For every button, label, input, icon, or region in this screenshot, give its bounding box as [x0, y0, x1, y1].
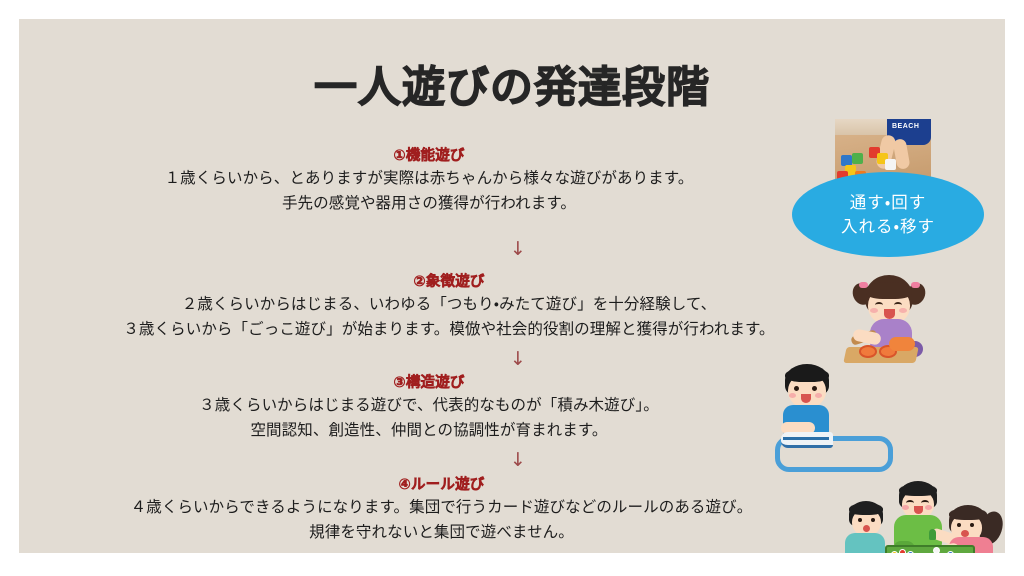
arrow-down-icon-1: ↓	[503, 240, 533, 259]
callout-line-2: 入れる・移す	[841, 215, 935, 239]
stage-line-1-1: １歳くらいから、とありますが実際は赤ちゃんから様々な遊びがあります。	[19, 166, 839, 191]
illus-board-space	[891, 551, 898, 553]
stage-block-3: ③構造遊び ３歳くらいからはじまる遊びで、代表的なものが「積み木遊び」。 空間認…	[19, 374, 839, 443]
illus-game-pawn	[929, 529, 936, 540]
stage-line-3-1: ３歳くらいからはじまる遊びで、代表的なものが「積み木遊び」。	[19, 393, 839, 418]
callout-ellipse: 通す・回す 入れる・移す	[792, 172, 984, 257]
illus-board-space	[947, 551, 954, 553]
slide-canvas: 一人遊びの発達段階 ①機能遊び １歳くらいから、とありますが実際は赤ちゃんから様…	[19, 19, 1005, 553]
illus-cheek-left	[870, 308, 878, 313]
illus-cheek-right	[899, 308, 907, 313]
illus-hair-tie-right	[911, 282, 920, 288]
stage-heading-4: ④ルール遊び	[19, 476, 864, 495]
stage-heading-3: ③構造遊び	[19, 374, 839, 393]
stage-line-4-1: ４歳くらいからできるようになります。集団で行うカード遊びなどのルールのある遊び。	[19, 495, 864, 520]
illus-eye-left	[875, 302, 883, 308]
stage-block-2: ②象徴遊び ２歳くらいからはじまる、いわゆる「つもり・みたて遊び」を十分経験して…	[19, 273, 879, 342]
stage-heading-2: ②象徴遊び	[19, 273, 879, 292]
callout-line-1: 通す・回す	[850, 191, 927, 215]
stage-heading-1: ①機能遊び	[19, 147, 839, 166]
illustration-kids-board-game	[837, 471, 1005, 553]
illus-kid1-fringe	[849, 503, 883, 515]
illus-kid1-mouth	[863, 525, 870, 532]
illus-kid1-body	[845, 533, 885, 553]
photo-block-piece	[852, 153, 863, 164]
illus-toy-train	[781, 432, 833, 448]
illus-train-stripe	[783, 437, 829, 440]
illus-toy-food	[859, 345, 877, 358]
illus-eye-right	[894, 302, 902, 308]
illus-kid1-eye-left	[858, 518, 862, 522]
illus-eye-left	[794, 386, 799, 391]
illus-eye-right	[812, 386, 817, 391]
stage-block-1: ①機能遊び １歳くらいから、とありますが実際は赤ちゃんから様々な遊びがあります。…	[19, 147, 839, 216]
illus-fringe	[785, 368, 829, 382]
illus-cheek-left	[789, 393, 796, 398]
illus-kid3-eye-right	[970, 523, 974, 527]
stage-line-2-2: ３歳くらいから「ごっこ遊び」が始まります。模倣や社会的役割の理解と獲得が行われま…	[19, 317, 879, 342]
illustration-girl-pretend-cooking	[837, 269, 941, 367]
illus-board-space	[899, 549, 906, 553]
illus-mouth	[801, 394, 811, 403]
illus-kid1-eye-right	[871, 518, 875, 522]
arrow-down-icon-3: ↓	[503, 451, 533, 470]
photo-shirt-text: BEACH	[892, 123, 919, 130]
illus-fringe	[866, 282, 912, 299]
illus-kid2-mouth	[914, 506, 923, 514]
illus-cheek-right	[815, 393, 822, 398]
arrow-down-icon-2: ↓	[503, 350, 533, 369]
stage-line-4-2: 規律を守れないと集団で遊べません。	[19, 520, 864, 545]
illus-kid3-fringe	[949, 508, 987, 520]
page-title: 一人遊びの発達段階	[19, 63, 1005, 113]
photo-block-piece	[885, 159, 896, 170]
stage-line-2-1: ２歳くらいからはじまる、いわゆる「つもり・みたて遊び」を十分経験して、	[19, 292, 879, 317]
illustration-boy-with-train	[781, 360, 893, 460]
illus-kid3-mouth	[961, 530, 969, 537]
illus-kid2-cheek-right	[925, 505, 932, 510]
illus-board-space	[933, 547, 940, 553]
stage-block-4: ④ルール遊び ４歳くらいからできるようになります。集団で行うカード遊びなどのルー…	[19, 476, 864, 545]
illus-kid2-cheek-left	[902, 505, 909, 510]
stage-line-3-2: 空間認知、創造性、仲間との協調性が育まれます。	[19, 418, 839, 443]
illus-board-space	[907, 551, 914, 553]
illus-mouth	[884, 309, 895, 319]
illus-kid2-fringe	[899, 484, 937, 496]
illus-toy-bread	[889, 337, 915, 351]
illus-kid3-eye-left	[957, 523, 961, 527]
stage-line-1-2: 手先の感覚や器用さの獲得が行われます。	[19, 191, 839, 216]
illus-hair-tie-left	[859, 282, 868, 288]
